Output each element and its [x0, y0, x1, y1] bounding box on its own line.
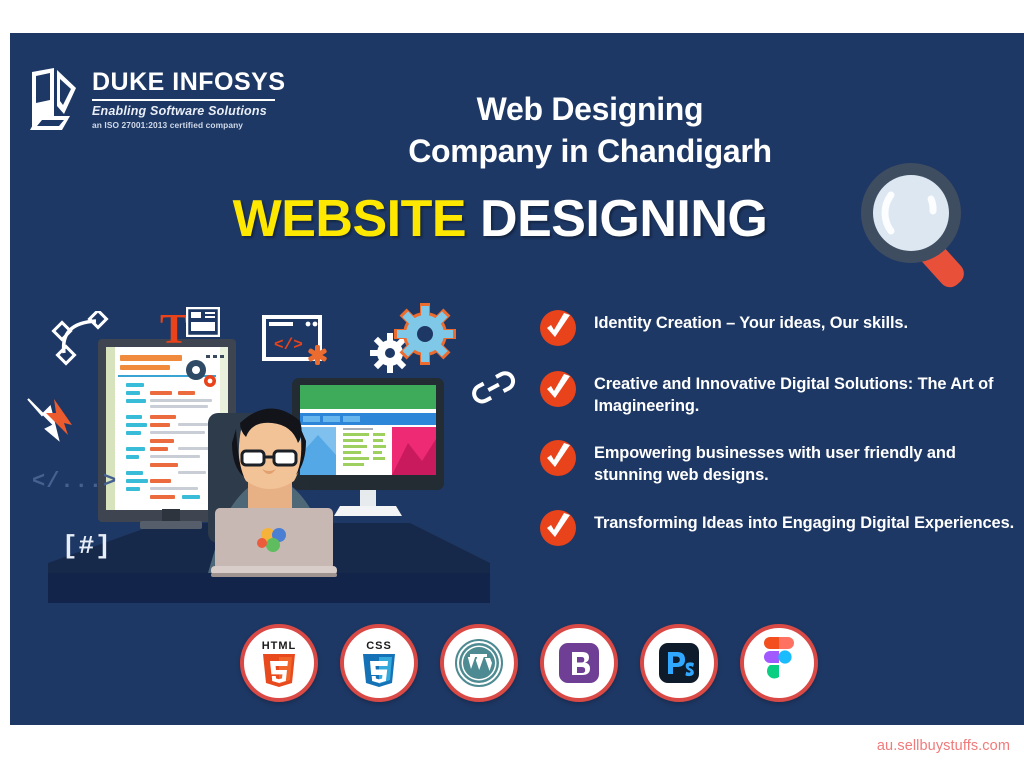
arrow-cursor-icon [24, 395, 78, 448]
feature-list: Identity Creation – Your ideas, Our skil… [538, 308, 1018, 569]
gear-large-icon [394, 303, 456, 370]
feature-text: Transforming Ideas into Engaging Digital… [594, 508, 1014, 534]
brand-divider [92, 99, 275, 101]
poster-title: WEBSITE DESIGNING [130, 193, 870, 245]
feature-text: Creative and Innovative Digital Solution… [594, 369, 1018, 417]
pen-tool-path-icon [50, 311, 114, 372]
code-tag-symbol: </...> [32, 469, 117, 494]
hash-bracket-symbol: [#] [62, 531, 112, 561]
poster-subtitle: Web Designing Company in Chandigarh [310, 88, 870, 172]
title-highlight: WEBSITE [233, 190, 466, 248]
technology-badges: HTML CSS [240, 624, 818, 702]
wordpress-icon [440, 624, 518, 702]
poster-canvas: DUKE INFOSYS Enabling Software Solutions… [0, 0, 1024, 768]
svg-text:</>: </> [274, 336, 303, 354]
html5-icon: HTML [240, 624, 318, 702]
text-tool-T-icon: T [160, 309, 188, 351]
figma-icon [740, 624, 818, 702]
watermark-url: au.sellbuystuffs.com [877, 738, 1010, 754]
list-item: Identity Creation – Your ideas, Our skil… [538, 308, 1018, 348]
poster-panel: DUKE INFOSYS Enabling Software Solutions… [10, 33, 1024, 725]
feature-text: Empowering businesses with user friendly… [594, 438, 1018, 486]
duke-infosys-sail-logo-icon [24, 66, 86, 138]
bootstrap-icon [540, 624, 618, 702]
check-circle-icon [538, 369, 578, 409]
brand-name: DUKE INFOSYS [92, 70, 282, 95]
brand-logo: DUKE INFOSYS Enabling Software Solutions… [20, 58, 280, 143]
brand-wordmark: DUKE INFOSYS Enabling Software Solutions… [92, 70, 282, 130]
svg-text:HTML: HTML [262, 640, 297, 652]
wireframe-layout-icon [186, 307, 220, 342]
feature-text: Identity Creation – Your ideas, Our skil… [594, 308, 908, 334]
brand-tagline: Enabling Software Solutions [92, 104, 282, 118]
list-item: Empowering businesses with user friendly… [538, 438, 1018, 486]
svg-text:CSS: CSS [366, 640, 392, 652]
list-item: Creative and Innovative Digital Solution… [538, 369, 1018, 417]
check-circle-icon [538, 308, 578, 348]
photoshop-icon [640, 624, 718, 702]
check-circle-icon [538, 508, 578, 548]
title-rest: DESIGNING [480, 190, 767, 248]
chain-link-icon [472, 369, 518, 416]
code-window-icon: </> [262, 315, 334, 376]
css3-icon: CSS [340, 624, 418, 702]
check-circle-icon [538, 438, 578, 478]
subtitle-line-2: Company in Chandigarh [310, 130, 870, 172]
magnifying-glass-icon [855, 161, 995, 296]
list-item: Transforming Ideas into Engaging Digital… [538, 508, 1018, 548]
subtitle-line-1: Web Designing [310, 88, 870, 130]
brand-certification: an ISO 27001:2013 certified company [92, 120, 282, 130]
